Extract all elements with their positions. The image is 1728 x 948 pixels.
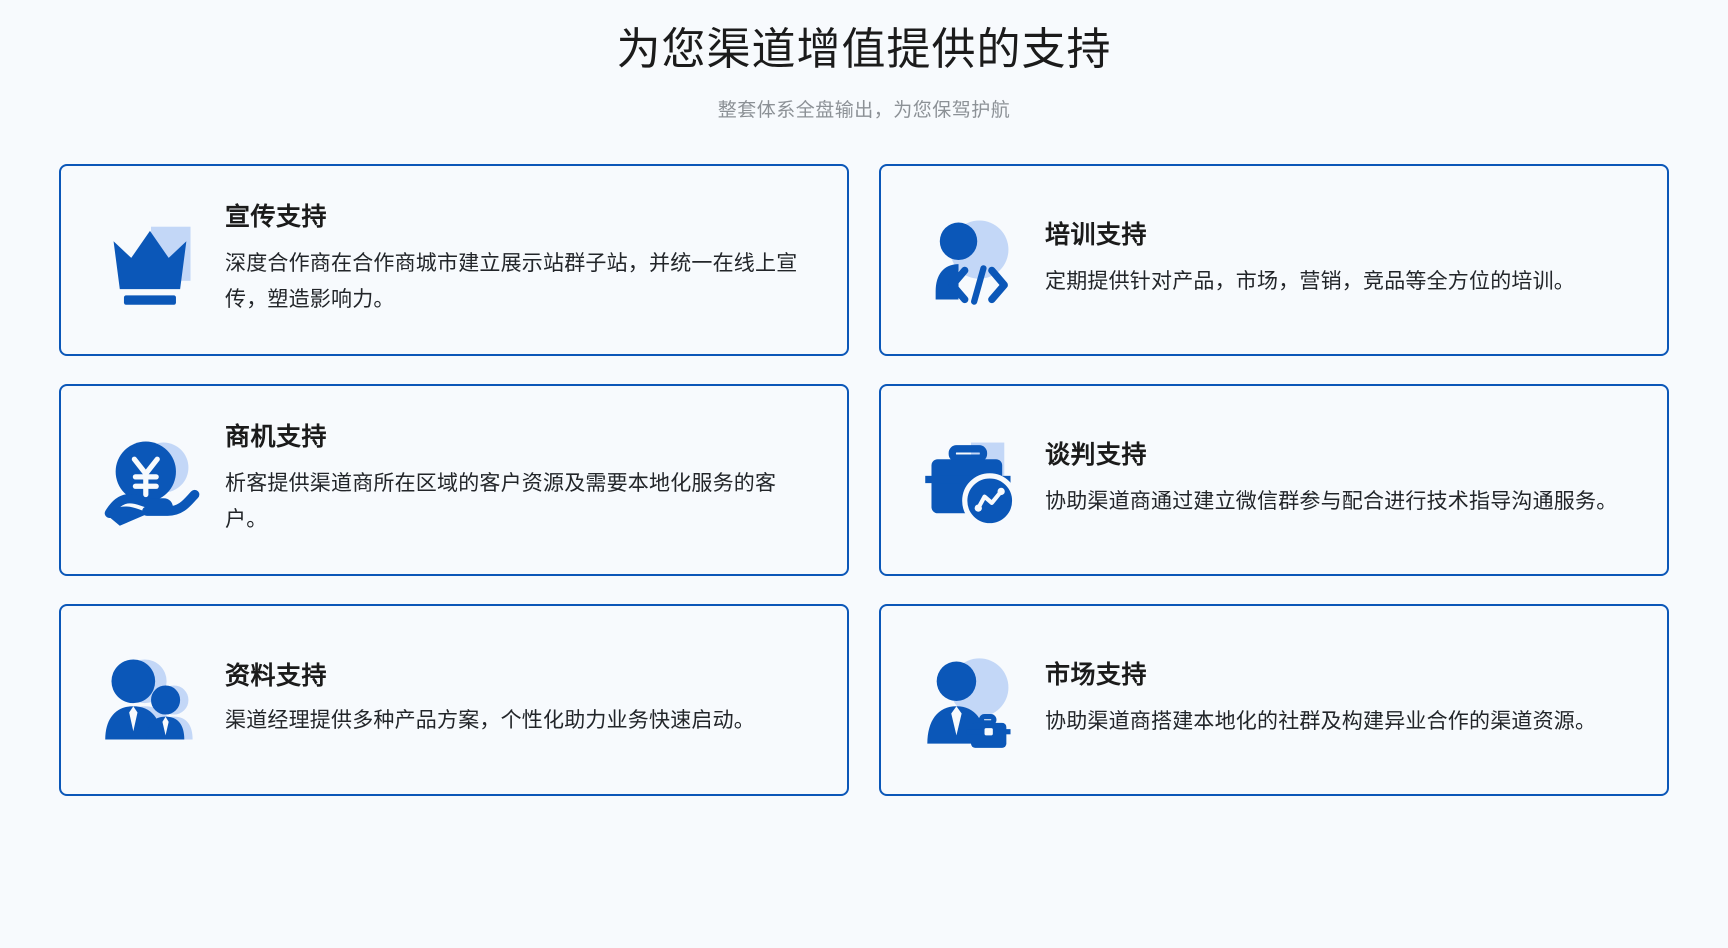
card-description: 析客提供渠道商所在区域的客户资源及需要本地化服务的客户。 <box>225 466 815 538</box>
card-description: 渠道经理提供多种产品方案，个性化助力业务快速启动。 <box>225 703 815 739</box>
card-title: 培训支持 <box>1045 220 1635 250</box>
person-code-icon <box>911 200 1031 320</box>
support-card-training[interactable]: 培训支持 定期提供针对产品，市场，营销，竞品等全方位的培训。 <box>879 164 1669 356</box>
card-title: 谈判支持 <box>1045 440 1635 470</box>
card-body: 商机支持 析客提供渠道商所在区域的客户资源及需要本地化服务的客户。 <box>225 422 821 538</box>
card-body: 培训支持 定期提供针对产品，市场，营销，竞品等全方位的培训。 <box>1045 220 1641 300</box>
card-body: 宣传支持 深度合作商在合作商城市建立展示站群子站，并统一在线上宣传，塑造影响力。 <box>225 202 821 318</box>
support-cards-grid: 宣传支持 深度合作商在合作商城市建立展示站群子站，并统一在线上宣传，塑造影响力。… <box>59 164 1669 796</box>
card-title: 资料支持 <box>225 661 815 691</box>
page-title: 为您渠道增值提供的支持 <box>0 22 1728 77</box>
support-section: 为您渠道增值提供的支持 整套体系全盘输出，为您保驾护航 宣传支持 深度合作商在合… <box>0 0 1728 948</box>
card-description: 定期提供针对产品，市场，营销，竞品等全方位的培训。 <box>1045 264 1635 300</box>
support-card-negotiation[interactable]: 谈判支持 协助渠道商通过建立微信群参与配合进行技术指导沟通服务。 <box>879 384 1669 576</box>
briefcase-chart-icon <box>911 420 1031 540</box>
crown-icon <box>91 200 211 320</box>
card-description: 协助渠道商通过建立微信群参与配合进行技术指导沟通服务。 <box>1045 484 1635 520</box>
support-card-materials[interactable]: 资料支持 渠道经理提供多种产品方案，个性化助力业务快速启动。 <box>59 604 849 796</box>
support-card-publicity[interactable]: 宣传支持 深度合作商在合作商城市建立展示站群子站，并统一在线上宣传，塑造影响力。 <box>59 164 849 356</box>
page-subtitle: 整套体系全盘输出，为您保驾护航 <box>0 95 1728 122</box>
card-title: 商机支持 <box>225 422 815 452</box>
person-briefcase-icon <box>911 640 1031 760</box>
card-body: 市场支持 协助渠道商搭建本地化的社群及构建异业合作的渠道资源。 <box>1045 660 1641 740</box>
card-description: 协助渠道商搭建本地化的社群及构建异业合作的渠道资源。 <box>1045 704 1635 740</box>
section-header: 为您渠道增值提供的支持 整套体系全盘输出，为您保驾护航 <box>0 0 1728 122</box>
card-title: 市场支持 <box>1045 660 1635 690</box>
card-description: 深度合作商在合作商城市建立展示站群子站，并统一在线上宣传，塑造影响力。 <box>225 246 815 318</box>
yuan-hand-icon <box>91 420 211 540</box>
card-title: 宣传支持 <box>225 202 815 232</box>
card-body: 资料支持 渠道经理提供多种产品方案，个性化助力业务快速启动。 <box>225 661 821 739</box>
two-people-icon <box>91 640 211 760</box>
support-card-opportunity[interactable]: 商机支持 析客提供渠道商所在区域的客户资源及需要本地化服务的客户。 <box>59 384 849 576</box>
support-card-market[interactable]: 市场支持 协助渠道商搭建本地化的社群及构建异业合作的渠道资源。 <box>879 604 1669 796</box>
card-body: 谈判支持 协助渠道商通过建立微信群参与配合进行技术指导沟通服务。 <box>1045 440 1641 520</box>
